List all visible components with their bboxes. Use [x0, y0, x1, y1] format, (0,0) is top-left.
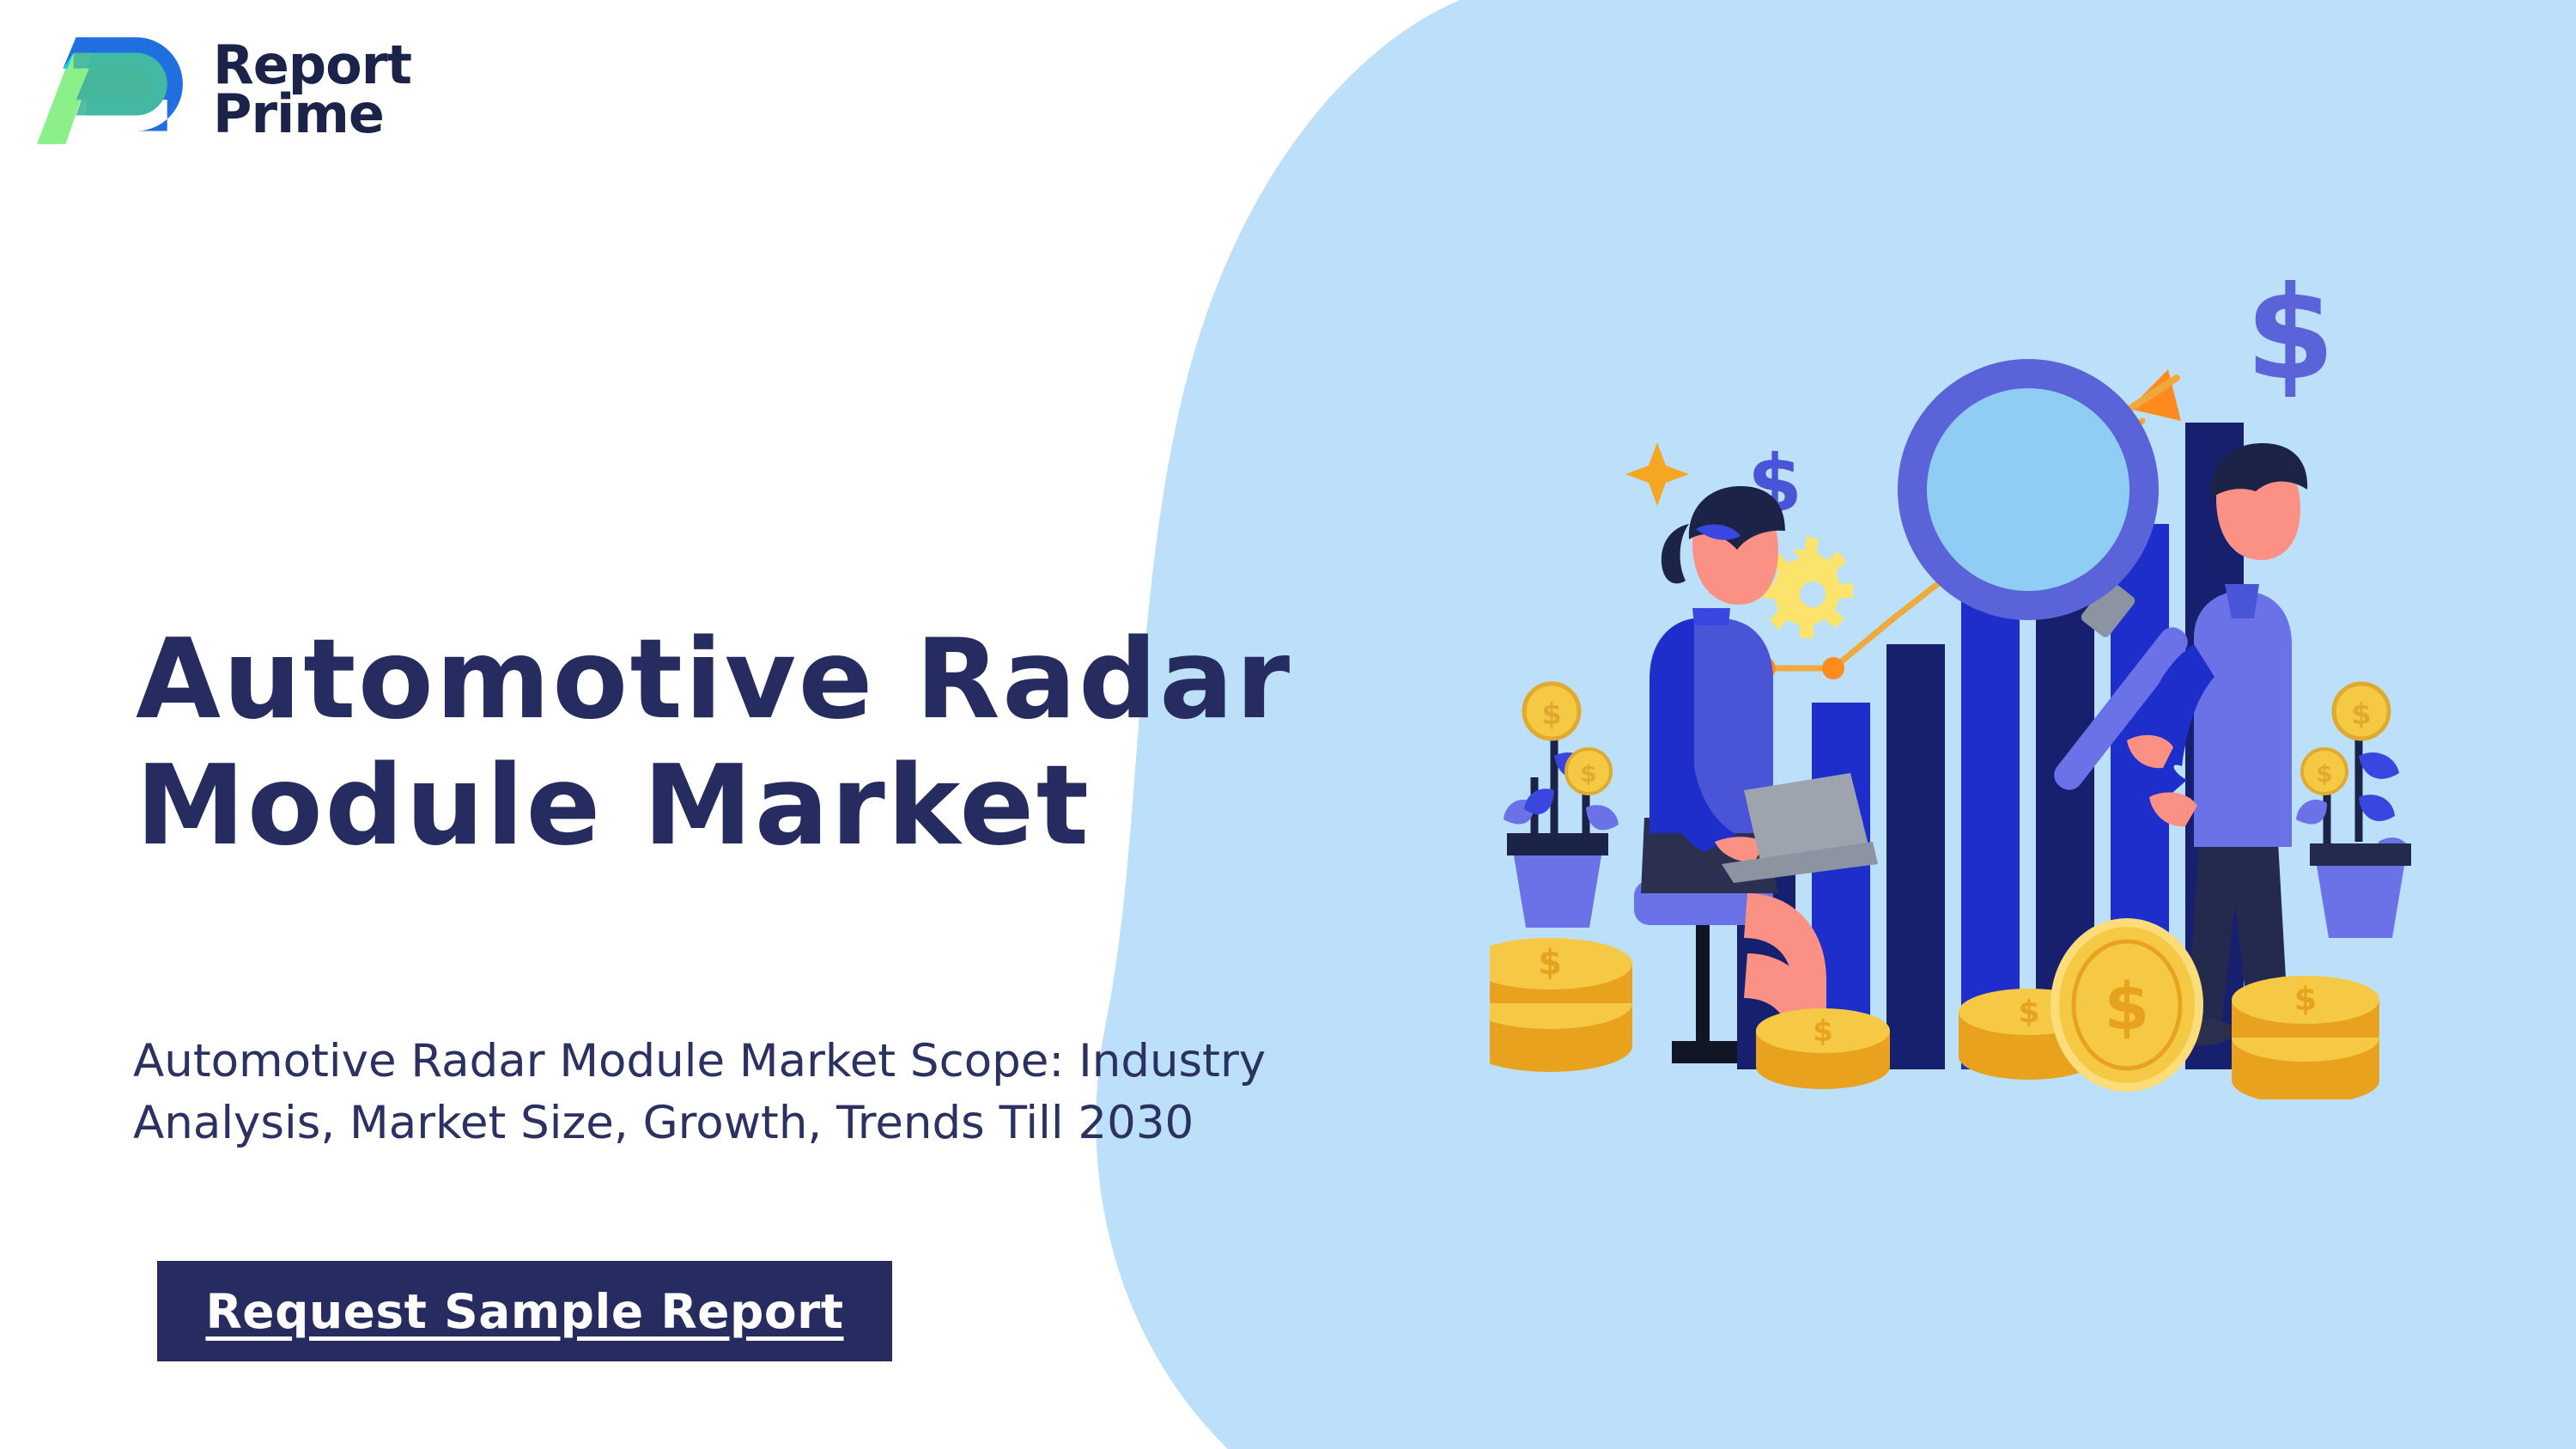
request-sample-report-label: Request Sample Report [205, 1284, 843, 1339]
trend-arrow-icon [2129, 369, 2181, 421]
dollar-sign-large-icon: $ [2245, 259, 2335, 409]
report-prime-logo-icon [34, 24, 191, 155]
brand-logo[interactable]: Report Prime [34, 24, 411, 155]
request-sample-report-button[interactable]: Request Sample Report [157, 1261, 892, 1361]
coin-stack-center: $ [1756, 1008, 1890, 1089]
big-standing-coin: $ [2055, 922, 2199, 1087]
brand-wordmark: Report Prime [213, 40, 411, 138]
bar-3 [1886, 644, 1945, 1069]
money-plant-right: $ $ [2296, 684, 2411, 938]
svg-text:$: $ [2351, 697, 2372, 732]
page-subtitle: Automotive Radar Module Market Scope: In… [133, 1031, 1541, 1154]
hero-banner: Report Prime $ $ [0, 0, 2576, 1449]
ponytail [1662, 524, 1689, 583]
svg-text:$: $ [2316, 759, 2332, 788]
svg-text:$: $ [1538, 943, 1562, 983]
brand-wordmark-line2: Prime [213, 89, 411, 138]
svg-text:$: $ [1813, 1014, 1833, 1049]
coin-stack-far-right: $ [2232, 976, 2379, 1099]
svg-text:$: $ [2018, 995, 2039, 1030]
sparkle-icon [1625, 442, 1689, 506]
page-title: Automotive Radar Module Market [136, 617, 1767, 869]
svg-text:$: $ [2105, 968, 2150, 1044]
svg-text:$: $ [2294, 980, 2317, 1018]
